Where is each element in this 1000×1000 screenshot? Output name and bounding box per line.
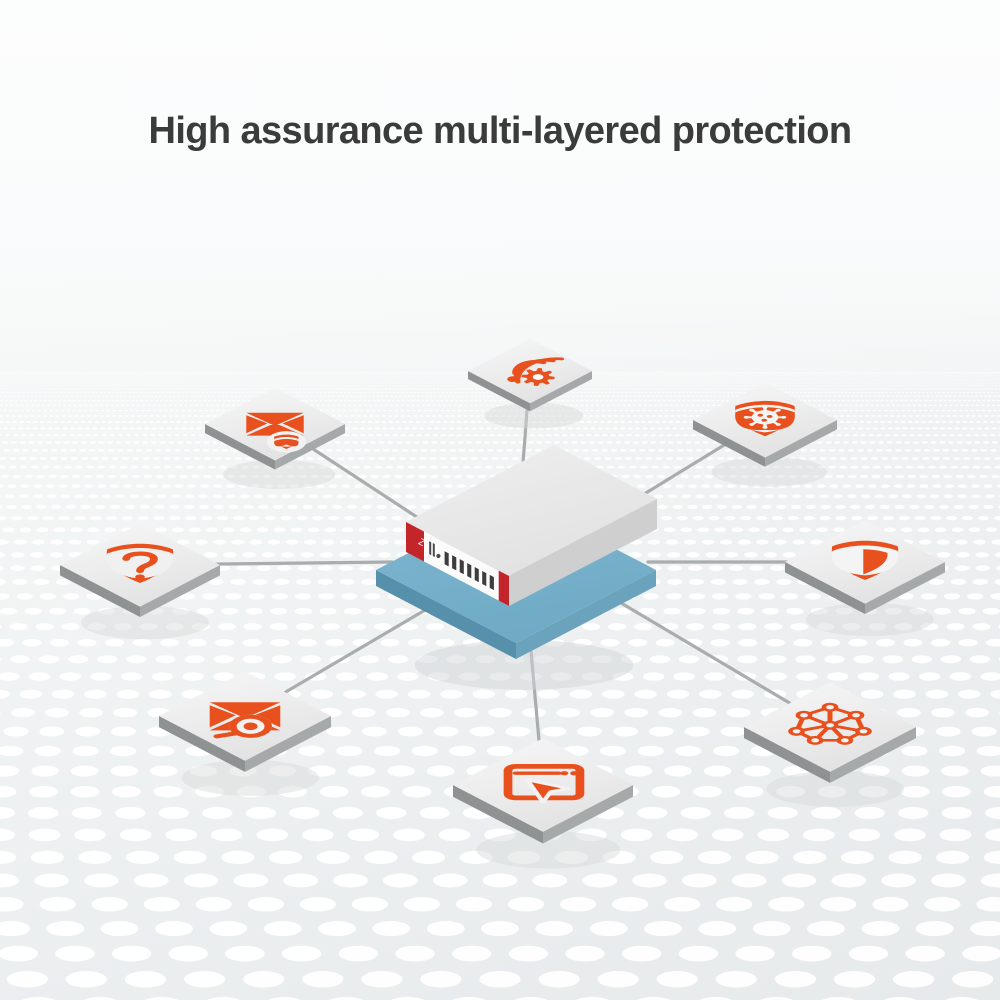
device-port-4: [467, 563, 471, 578]
device-port-5: [475, 567, 479, 582]
device-led-1: [429, 541, 431, 555]
infographic-canvas: ZYXEL High assurance multi-layered prote…: [0, 0, 1000, 1000]
tile-wifi-management[interactable]: [468, 339, 592, 429]
device-group: ZYXEL: [376, 445, 657, 690]
device-led-2: [433, 543, 435, 557]
tile-firewall-shield[interactable]: [785, 520, 945, 636]
tile-network-topology[interactable]: [744, 682, 916, 807]
tile-reputation-filter[interactable]: [60, 523, 220, 639]
device-port-7: [490, 575, 494, 590]
device-port-2: [452, 555, 456, 570]
device-status-dot: [436, 554, 440, 558]
device-port-1: [445, 551, 449, 566]
tile-anti-spam[interactable]: [205, 388, 345, 489]
tile-content-filtering[interactable]: [453, 738, 633, 868]
device-rear-plate: [499, 571, 509, 606]
page-title: High assurance multi-layered protection: [0, 110, 1000, 153]
device-port-3: [460, 559, 464, 574]
tile-email-inspection[interactable]: [159, 671, 331, 796]
device-port-6: [482, 571, 486, 586]
tile-anti-virus[interactable]: [693, 383, 837, 487]
